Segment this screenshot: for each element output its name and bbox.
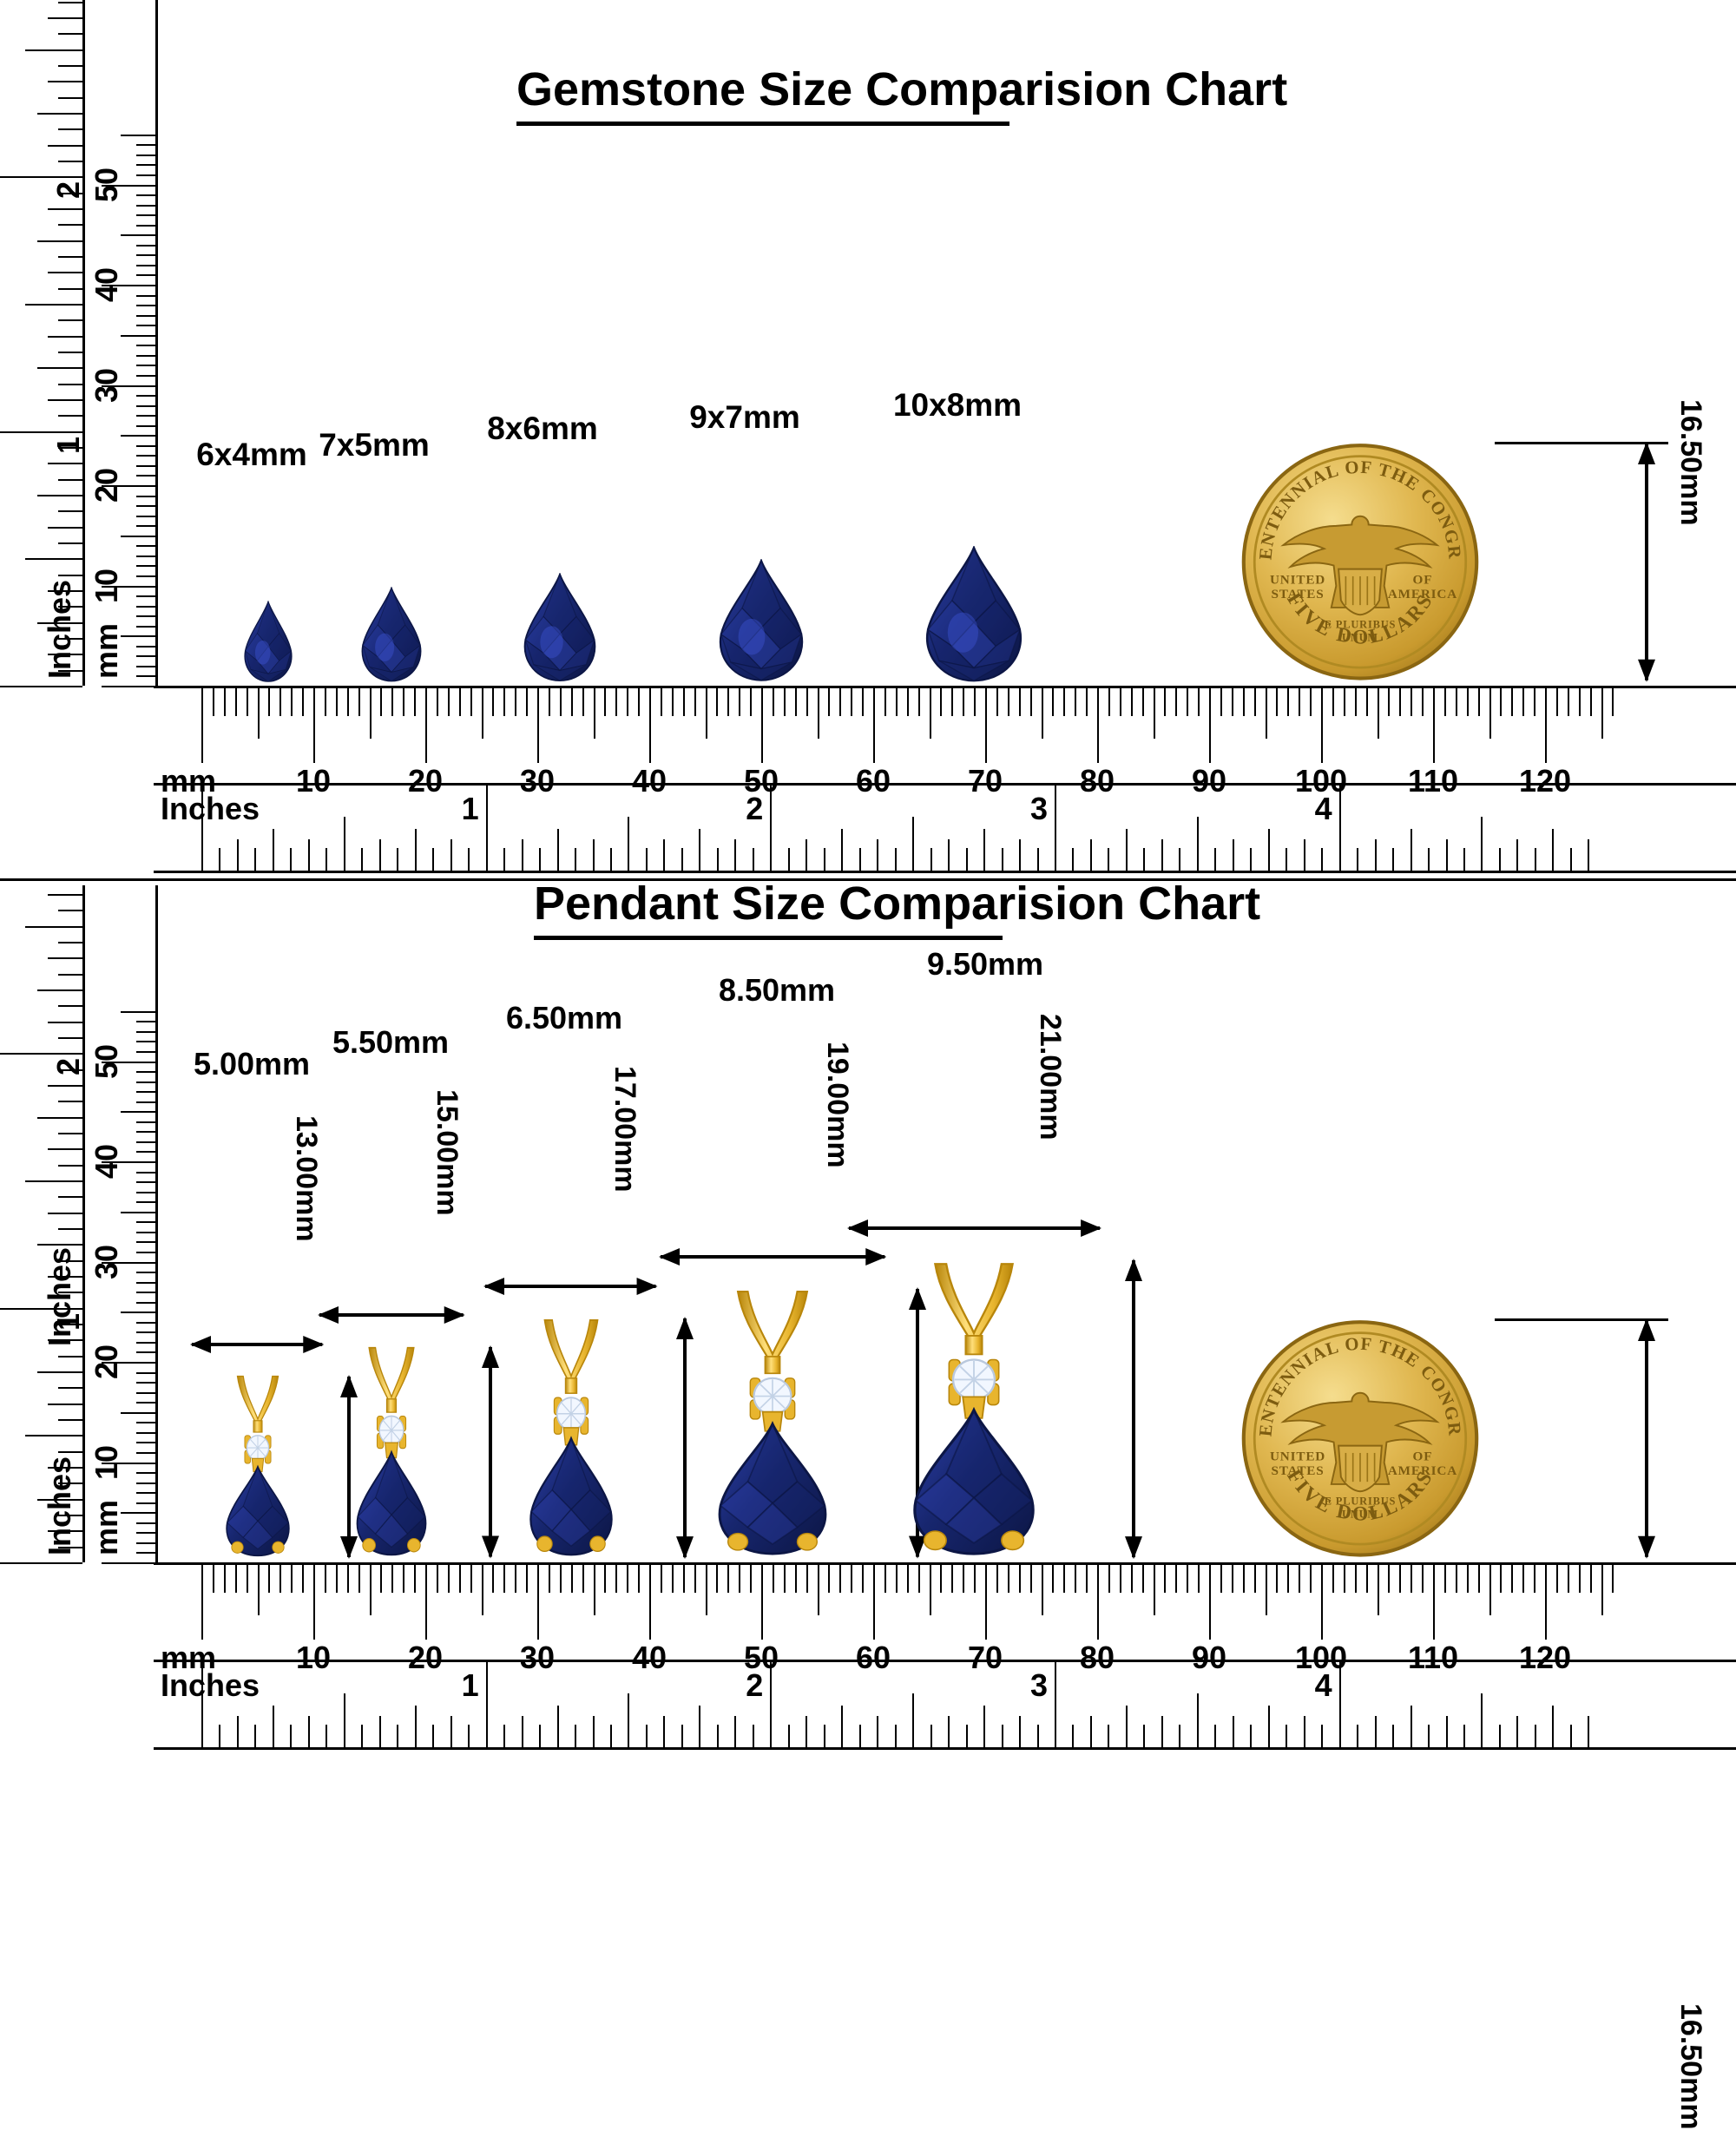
ruler-tick-label: 3 — [1030, 1667, 1048, 1704]
ruler-tick — [951, 688, 953, 716]
ruler-tick — [1357, 848, 1358, 871]
ruler-tick — [1164, 1565, 1166, 1593]
svg-text:E PLURIBUS: E PLURIBUS — [1325, 619, 1397, 631]
ruler-tick — [136, 1351, 155, 1353]
ruler-tick — [48, 336, 82, 338]
ruler-tick — [582, 1565, 584, 1593]
ruler-tick — [1097, 1565, 1099, 1640]
ruler-tick — [219, 1725, 220, 1747]
ruler-tick — [717, 1725, 719, 1747]
ruler-tick — [48, 17, 82, 19]
ruler-tick — [136, 1101, 155, 1103]
ruler-tick — [1019, 839, 1021, 871]
pendant-width-label: 9.50mm — [927, 946, 1043, 983]
ruler-tick — [58, 575, 82, 576]
ruler-tick — [268, 1565, 270, 1593]
ruler-tick — [358, 688, 360, 716]
ruler-tick — [1410, 1706, 1412, 1747]
ruler-tick — [1063, 688, 1065, 716]
ruler-tick — [503, 848, 505, 871]
ruler-tick — [136, 626, 155, 628]
horizontal-inch-ruler: 1234Inches — [154, 1660, 1736, 1750]
ruler-tick — [486, 785, 488, 871]
ruler-tick — [1481, 1693, 1483, 1747]
ruler-tick — [649, 1565, 651, 1640]
ruler-tick — [907, 1565, 909, 1593]
ruler-tick — [1552, 829, 1554, 871]
ruler-tick — [851, 688, 852, 716]
ruler-tick — [1120, 688, 1121, 716]
ruler-tick — [136, 565, 155, 567]
ruler-tick — [121, 536, 155, 537]
ruler-tick — [247, 1565, 248, 1593]
pendant-height-label: 17.00mm — [608, 1066, 641, 1193]
ruler-tick — [290, 1725, 292, 1747]
ruler-tick — [0, 1053, 82, 1055]
ruler-tick — [361, 1725, 363, 1747]
ruler-tick — [1378, 688, 1379, 739]
ruler-tick — [437, 1565, 438, 1593]
ruler-tick — [58, 97, 82, 99]
ruler-tick — [1276, 688, 1278, 716]
ruler-tick — [470, 1565, 472, 1593]
ruler-tick — [432, 848, 434, 871]
ruler-tick — [985, 1565, 987, 1640]
ruler-tick — [1552, 1706, 1554, 1747]
ruler-tick — [344, 817, 345, 871]
ruler-tick — [308, 1716, 310, 1747]
ruler-tick — [1266, 1565, 1267, 1615]
ruler-tick — [839, 1565, 841, 1593]
ruler-tick — [951, 1565, 953, 1593]
ruler-tick — [1375, 839, 1377, 871]
ruler-tick — [437, 688, 438, 716]
ruler-tick — [224, 688, 226, 716]
ruler-tick — [706, 688, 707, 739]
ruler-tick — [694, 1565, 696, 1593]
ruler-tick — [450, 839, 452, 871]
ruler-tick — [784, 688, 786, 716]
ruler-tick — [1378, 1565, 1379, 1615]
ruler-tick — [1511, 1565, 1513, 1593]
ruler-tick — [1556, 688, 1558, 716]
ruler-tick — [727, 688, 729, 716]
ruler-tick — [706, 1565, 707, 1615]
ruler-tick — [1299, 688, 1300, 716]
ruler-tick — [37, 113, 82, 115]
ruler-tick-label: 2 — [50, 1058, 87, 1075]
ruler-tick — [1304, 1716, 1305, 1747]
ruler-tick — [25, 1180, 82, 1182]
ruler-tick — [717, 848, 719, 871]
ruler-tick — [136, 154, 155, 156]
ruler-tick — [313, 1565, 315, 1640]
ruler-tick — [1143, 1725, 1145, 1747]
ruler-tick — [627, 1565, 628, 1593]
ruler-tick — [716, 688, 718, 716]
ruler-tick — [663, 839, 665, 871]
ruler-tick — [136, 475, 155, 477]
ruler-tick — [1179, 1725, 1180, 1747]
ruler-tick — [121, 435, 155, 437]
ruler-tick — [610, 848, 612, 871]
ruler-tick — [136, 606, 155, 608]
svg-text:E PLURIBUS: E PLURIBUS — [1325, 1496, 1397, 1508]
ruler-tick — [918, 688, 920, 716]
horizontal-inch-ruler: 1234Inches — [154, 783, 1736, 873]
ruler-tick — [1232, 688, 1233, 716]
ruler-tick — [136, 1292, 155, 1293]
pendant-height-label: 21.00mm — [1033, 1014, 1067, 1141]
gemstone-size-chart: Gemstone Size Comparision Chart 12Inches… — [0, 0, 1736, 877]
ruler-tick — [795, 688, 797, 716]
ruler-tick — [1075, 1565, 1076, 1593]
ruler-tick — [1522, 688, 1524, 716]
ruler-tick — [1090, 839, 1092, 871]
ruler-tick — [136, 1252, 155, 1253]
ruler-tick — [1019, 688, 1021, 716]
ruler-tick-label: 4 — [1315, 1667, 1332, 1704]
ruler-tick — [347, 1565, 349, 1593]
ruler-tick — [425, 1565, 427, 1640]
ruler-tick — [503, 1565, 505, 1593]
ruler-tick — [537, 688, 539, 763]
ruler-tick — [1456, 688, 1457, 716]
ruler-tick — [121, 1512, 155, 1514]
ruler-tick — [48, 208, 82, 210]
ruler-tick — [325, 1565, 326, 1593]
ruler-tick — [25, 49, 82, 51]
ruler-tick — [1535, 848, 1536, 871]
ruler-tick — [136, 1091, 155, 1093]
ruler-tick — [414, 1565, 416, 1593]
ruler-tick — [1108, 1565, 1110, 1593]
ruler-tick — [58, 1451, 82, 1453]
ruler-tick — [1254, 1565, 1256, 1593]
ruler-tick — [1179, 848, 1180, 871]
ruler-tick — [136, 164, 155, 166]
ruler-tick — [136, 1331, 155, 1333]
ruler-tick — [770, 1661, 772, 1747]
ruler-tick — [996, 1565, 998, 1593]
ruler-tick — [136, 556, 155, 557]
ruler-tick — [557, 1706, 559, 1747]
ruler-tick — [136, 225, 155, 227]
ruler-tick — [1446, 839, 1448, 871]
ruler-tick-label: 40 — [89, 267, 125, 302]
ruler-tick-label: 30 — [89, 1244, 125, 1279]
svg-text:UNUM: UNUM — [1342, 632, 1378, 644]
ruler-tick — [121, 234, 155, 236]
ruler-tick — [468, 1725, 470, 1747]
ruler-tick — [1588, 839, 1589, 871]
ruler-tick — [839, 688, 841, 716]
ruler-tick — [1243, 1565, 1245, 1593]
ruler-tick — [254, 848, 256, 871]
ruler-tick — [121, 1212, 155, 1213]
ruler-tick — [403, 1565, 404, 1593]
ruler-tick — [415, 1706, 417, 1747]
ruler-tick — [136, 1201, 155, 1203]
ruler-tick-label: 2 — [746, 1667, 763, 1704]
ruler-tick — [537, 1565, 539, 1640]
svg-text:STATES: STATES — [1272, 1463, 1325, 1478]
ruler-tick — [58, 33, 82, 35]
ruler-tick — [963, 688, 964, 716]
ruler-tick — [661, 688, 662, 716]
svg-text:UNITED: UNITED — [1270, 1450, 1325, 1464]
vertical-inch-ruler: 12Inches — [0, 0, 85, 686]
ruler-tick — [770, 785, 772, 871]
ruler-tick — [985, 688, 987, 763]
ruler-tick — [1534, 688, 1535, 716]
ruler-tick — [1516, 1716, 1518, 1747]
ruler-tick — [1072, 1725, 1074, 1747]
ruler-tick — [1175, 688, 1177, 716]
ruler-tick — [136, 1021, 155, 1022]
ruler-tick-label: 4 — [1315, 791, 1332, 827]
ruler-tick — [136, 254, 155, 256]
pendant-height-label: 15.00mm — [430, 1089, 464, 1216]
ruler-tick — [503, 1725, 505, 1747]
ruler-tick — [1489, 688, 1491, 739]
ruler-tick — [1545, 688, 1547, 763]
ruler-tick — [121, 635, 155, 637]
ruler-tick — [1344, 1565, 1345, 1593]
ruler-tick — [37, 1371, 82, 1373]
ruler-tick — [136, 1342, 155, 1344]
gem-label: 8x6mm — [487, 411, 598, 447]
ruler-tick — [1601, 688, 1603, 739]
ruler-tick — [963, 1565, 964, 1593]
ruler-tick — [136, 1172, 155, 1173]
ruler-tick — [121, 335, 155, 337]
ruler-tick — [48, 145, 82, 147]
ruler-tick — [828, 688, 830, 716]
coin-diameter-arrow — [1632, 1318, 1661, 1559]
ruler-tick — [859, 848, 861, 871]
ruler-tick — [0, 431, 82, 433]
horizontal-mm-ruler: 102030405060708090100110120mm — [154, 1562, 1736, 1660]
ruler-tick — [1332, 1565, 1334, 1593]
ruler-tick-label: 50 — [89, 167, 125, 201]
ruler-tick — [1568, 688, 1569, 716]
ruler-unit-label: mm — [89, 623, 125, 679]
ruler-tick — [58, 288, 82, 290]
ruler-tick — [948, 839, 950, 871]
ruler-tick — [1489, 1565, 1491, 1615]
ruler-tick — [290, 848, 292, 871]
ruler-tick — [136, 205, 155, 207]
coin-diameter-label: 16.50mm — [1674, 399, 1707, 526]
pendant-width-arrow — [483, 1272, 658, 1301]
ruler-tick — [48, 272, 82, 273]
ruler-tick — [136, 1232, 155, 1233]
ruler-tick — [672, 688, 674, 716]
pendant-width-arrow — [190, 1330, 324, 1359]
ruler-unit-label: Inches — [161, 791, 260, 827]
pendant-width-arrow — [659, 1242, 886, 1272]
pendant-chart-title: Pendant Size Comparision Chart — [534, 877, 1003, 940]
ruler-tick — [1198, 688, 1200, 716]
ruler-tick — [1467, 688, 1469, 716]
ruler-tick — [734, 839, 736, 871]
ruler-tick — [1545, 1565, 1547, 1640]
ruler-tick — [1209, 688, 1211, 763]
ruler-tick — [1052, 688, 1054, 716]
ruler-tick — [983, 829, 985, 871]
ruler-tick — [1042, 688, 1043, 739]
ruler-tick — [1042, 1565, 1043, 1615]
coin-diameter-arrow — [1632, 442, 1661, 682]
ruler-tick — [1286, 848, 1287, 871]
ruler-tick — [788, 1725, 790, 1747]
ruler-tick — [0, 1562, 82, 1564]
gemstone — [358, 587, 426, 682]
ruler-tick — [699, 1706, 700, 1747]
ruler-tick — [136, 1392, 155, 1394]
ruler-tick — [136, 1302, 155, 1304]
ruler-tick — [136, 1051, 155, 1053]
ruler-tick — [37, 367, 82, 369]
ruler-tick-label: 10 — [89, 1444, 125, 1479]
ruler-tick — [136, 1432, 155, 1434]
ruler-tick — [1410, 1565, 1412, 1593]
ruler-tick — [448, 688, 450, 716]
ruler-tick — [646, 848, 648, 871]
ruler-tick — [1433, 1565, 1435, 1640]
pendant-width-label: 6.50mm — [506, 1000, 622, 1036]
ruler-tick — [136, 1522, 155, 1524]
ruler-tick — [557, 829, 559, 871]
ruler-tick — [1214, 848, 1216, 871]
ruler-tick — [370, 1565, 372, 1615]
ruler-tick — [1008, 688, 1009, 716]
ruler-tick — [1516, 839, 1518, 871]
gem-label: 10x8mm — [893, 387, 1022, 424]
ruler-tick — [136, 345, 155, 346]
ruler-tick — [1250, 848, 1252, 871]
ruler-tick — [818, 1565, 819, 1615]
ruler-tick — [380, 688, 382, 716]
ruler-unit-label: Inches — [161, 1667, 260, 1704]
ruler-tick — [1131, 688, 1133, 716]
ruler-tick — [136, 455, 155, 457]
ruler-tick-label: 1 — [462, 791, 479, 827]
ruler-tick — [136, 1542, 155, 1544]
ruler-unit-label: Inches — [42, 580, 78, 679]
ruler-tick — [268, 688, 270, 716]
vertical-mm-ruler: 1020304050mm — [85, 0, 158, 686]
pendant-height-arrow — [670, 1317, 700, 1559]
ruler-tick — [1612, 688, 1614, 716]
ruler-tick — [136, 1192, 155, 1193]
ruler-tick — [136, 214, 155, 216]
ruler-tick — [1214, 1725, 1216, 1747]
ruler-tick — [1243, 688, 1245, 716]
ruler-tick — [877, 1716, 878, 1747]
ruler-tick — [136, 1492, 155, 1494]
ruler-tick — [1478, 688, 1480, 716]
ruler-tick — [571, 688, 573, 716]
ruler-tick — [1568, 1565, 1569, 1593]
ruler-tick — [136, 1502, 155, 1504]
ruler-tick — [594, 688, 595, 739]
ruler-tick — [58, 128, 82, 130]
pendant — [904, 1253, 1042, 1559]
ruler-tick — [699, 829, 700, 871]
ruler-tick — [948, 1716, 950, 1747]
gemstone — [713, 559, 809, 682]
ruler-tick — [136, 675, 155, 677]
ruler-tick — [37, 1244, 82, 1246]
ruler-tick — [503, 688, 505, 716]
ruler-tick — [1250, 1725, 1252, 1747]
ruler-tick — [237, 839, 239, 871]
ruler-tick — [895, 1725, 897, 1747]
ruler-tick — [683, 688, 685, 716]
ruler-tick — [974, 1565, 976, 1593]
ruler-tick — [136, 1452, 155, 1454]
ruler-tick — [1037, 1725, 1039, 1747]
ruler-tick — [526, 1565, 528, 1593]
ruler-tick — [966, 848, 968, 871]
ruler-tick — [459, 688, 461, 716]
ruler-tick — [1254, 688, 1256, 716]
ruler-tick — [1286, 1725, 1287, 1747]
ruler-tick — [806, 839, 807, 871]
ruler-tick — [136, 666, 155, 667]
ruler-tick — [694, 688, 696, 716]
ruler-tick — [492, 1565, 494, 1593]
ruler-tick — [136, 1241, 155, 1243]
ruler-tick — [918, 1565, 920, 1593]
ruler-tick — [582, 688, 584, 716]
ruler-tick — [136, 274, 155, 276]
ruler-tick — [313, 688, 315, 763]
ruler-tick — [575, 848, 576, 871]
ruler-tick — [1131, 1565, 1133, 1593]
ruler-tick — [273, 1706, 274, 1747]
ruler-tick — [58, 319, 82, 321]
ruler-tick — [896, 1565, 898, 1593]
ruler-tick — [219, 848, 220, 871]
ruler-tick — [344, 1693, 345, 1747]
ruler-tick — [48, 463, 82, 464]
ruler-tick — [48, 1022, 82, 1023]
ruler-tick — [1055, 1661, 1056, 1747]
ruler-tick — [1444, 1565, 1446, 1593]
ruler-tick — [136, 1282, 155, 1284]
ruler-tick — [136, 655, 155, 657]
ruler-tick — [539, 1725, 541, 1747]
gem-label: 6x4mm — [196, 437, 307, 473]
ruler-tick — [1142, 1565, 1144, 1593]
pendant — [352, 1340, 431, 1559]
ruler-tick — [1220, 1565, 1222, 1593]
ruler-tick — [753, 848, 754, 871]
ruler-tick — [136, 465, 155, 467]
ruler-tick — [1612, 1565, 1614, 1593]
ruler-tick — [773, 688, 774, 716]
ruler-tick — [683, 1565, 685, 1593]
reference-coin: BICENTENNIAL OF THE CONGRESSFIVE DOLLARS… — [1240, 442, 1481, 682]
ruler-tick — [1410, 688, 1412, 716]
ruler-tick — [58, 1005, 82, 1007]
ruler-tick — [983, 1706, 985, 1747]
ruler-tick — [1433, 688, 1435, 763]
ruler-tick — [1175, 1565, 1177, 1593]
